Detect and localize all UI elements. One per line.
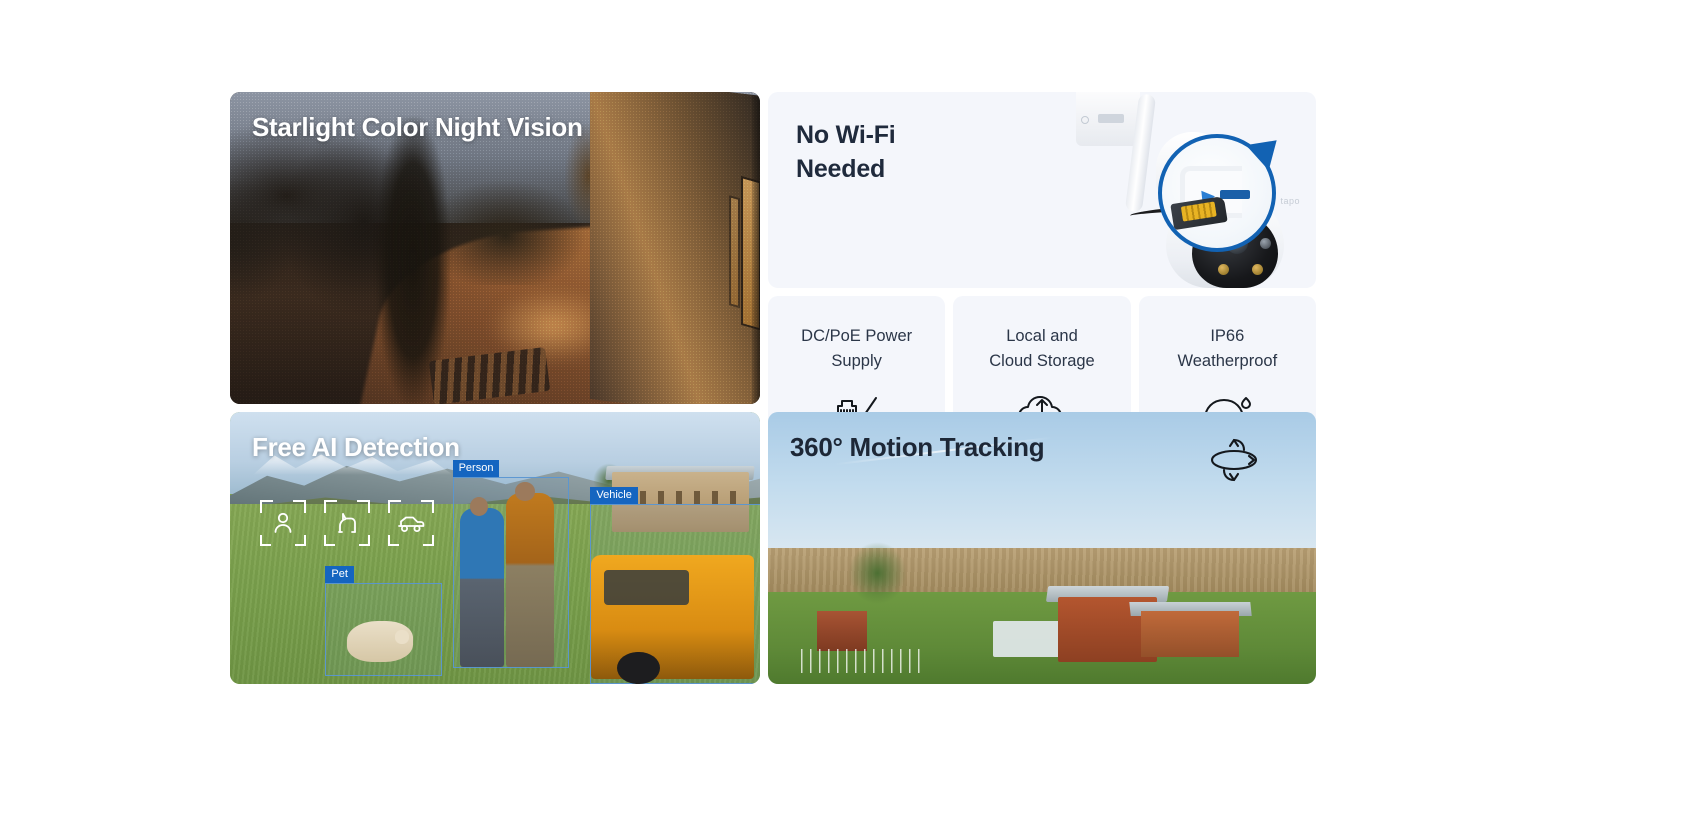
panel-no-wifi-needed[interactable]: No Wi-Fi Needed tapo xyxy=(768,92,1316,288)
vehicle-detect-icon xyxy=(388,500,434,546)
vehicle-subject xyxy=(591,555,753,679)
ai-detection-title: Free AI Detection xyxy=(252,432,460,463)
camera-brand-mark: tapo xyxy=(1280,196,1300,206)
camera-ir-led xyxy=(1260,238,1271,249)
person-subject-right xyxy=(506,493,554,666)
feature-grid: Starlight Color Night Vision No Wi-Fi Ne… xyxy=(230,92,1316,684)
camera-product-image: tapo xyxy=(980,92,1310,288)
dog-head xyxy=(395,630,410,644)
detection-box-vehicle: Vehicle xyxy=(590,504,760,684)
person-subject-left xyxy=(460,508,504,666)
motion-tracking-title: 360° Motion Tracking xyxy=(790,432,1044,463)
bracket-screw xyxy=(1081,116,1089,124)
card-weatherproof-label: IP66 Weatherproof xyxy=(1177,324,1277,374)
card-dc-poe-label: DC/PoE Power Supply xyxy=(801,324,912,374)
small-red-barn xyxy=(817,611,866,652)
farm-fence xyxy=(801,649,922,673)
camera-spotlight-led xyxy=(1252,264,1263,275)
no-wifi-title: No Wi-Fi Needed xyxy=(796,118,896,186)
vehicle-window xyxy=(604,570,688,605)
person-head-left xyxy=(470,497,488,516)
vehicle-wheel xyxy=(617,652,659,684)
pan-tilt-rotation-icon xyxy=(1204,430,1264,487)
camera-card-slot xyxy=(1098,114,1124,123)
detection-box-person: Person xyxy=(453,477,570,667)
night-vision-title: Starlight Color Night Vision xyxy=(252,112,583,143)
detection-type-icons xyxy=(260,500,434,546)
tile-ai-detection[interactable]: Free AI Detection xyxy=(230,412,760,684)
tile-motion-tracking[interactable]: 360° Motion Tracking xyxy=(768,412,1316,684)
camera-spotlight-led xyxy=(1218,264,1229,275)
tile-night-vision[interactable]: Starlight Color Night Vision xyxy=(230,92,760,404)
dog-subject xyxy=(347,621,413,663)
person-head-right xyxy=(515,482,534,501)
person-detect-icon xyxy=(260,500,306,546)
pet-detect-icon xyxy=(324,500,370,546)
microsd-card xyxy=(1170,196,1227,230)
detection-label-pet: Pet xyxy=(325,566,354,583)
detection-label-vehicle: Vehicle xyxy=(590,487,637,504)
card-storage-label: Local and Cloud Storage xyxy=(989,324,1095,374)
ai-barn-doors xyxy=(622,491,739,505)
zoom-slot-opening xyxy=(1220,190,1250,199)
detection-box-pet: Pet xyxy=(325,583,442,675)
farm-shed xyxy=(1141,611,1240,657)
right-column: No Wi-Fi Needed tapo xyxy=(768,92,1316,404)
sd-card-contacts xyxy=(1181,201,1217,221)
